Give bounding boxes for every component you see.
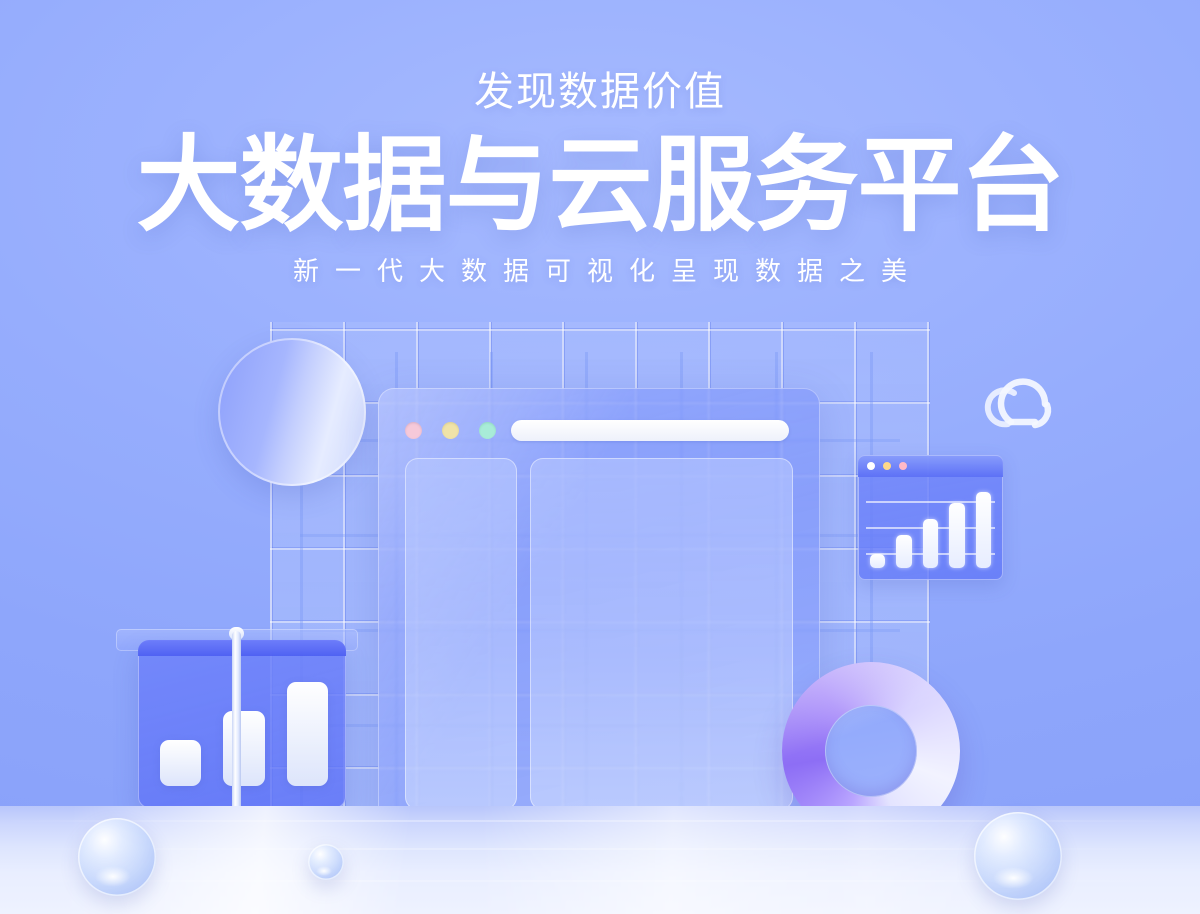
glass-sphere-left <box>78 818 156 896</box>
bar-chart-bars <box>160 682 328 786</box>
mini-chart-card <box>858 455 1003 580</box>
bar <box>287 682 328 786</box>
glass-sphere-right <box>974 812 1062 900</box>
glass-disc <box>218 338 366 486</box>
eyebrow-text: 发现数据价值 <box>0 72 1200 112</box>
bar <box>949 503 964 568</box>
close-dot[interactable] <box>405 422 422 439</box>
glass-sphere-small <box>308 844 344 880</box>
tagline-text: 新一代大数据可视化呈现数据之美 <box>0 258 1200 284</box>
bar <box>160 740 201 786</box>
page-title: 大数据与云服务平台 <box>0 134 1200 238</box>
mini-dot-2 <box>883 462 891 470</box>
minimize-dot[interactable] <box>442 422 459 439</box>
banner-stage: 发现数据价值 大数据与云服务平台 新一代大数据可视化呈现数据之美 <box>0 0 1200 914</box>
mini-chart-bars <box>870 489 991 568</box>
sidebar-pane <box>405 458 517 810</box>
mini-card-titlebar <box>858 455 1003 477</box>
browser-window-mockup <box>378 388 820 840</box>
mini-card-dots <box>867 462 907 470</box>
donut-hole <box>825 705 917 797</box>
bar <box>896 535 911 568</box>
mini-dot-1 <box>867 462 875 470</box>
maximize-dot[interactable] <box>479 422 496 439</box>
address-bar[interactable] <box>511 420 789 441</box>
bar-chart-card <box>138 640 346 808</box>
bar <box>223 711 264 786</box>
bar <box>923 519 938 568</box>
content-pane <box>530 458 793 810</box>
window-traffic-lights <box>405 422 496 439</box>
left-card-titlebar <box>138 640 346 656</box>
mini-dot-3 <box>899 462 907 470</box>
bar <box>976 492 991 568</box>
headline-block: 发现数据价值 大数据与云服务平台 新一代大数据可视化呈现数据之美 <box>0 72 1200 284</box>
cloud-icon <box>978 368 1064 430</box>
bar <box>870 554 885 568</box>
